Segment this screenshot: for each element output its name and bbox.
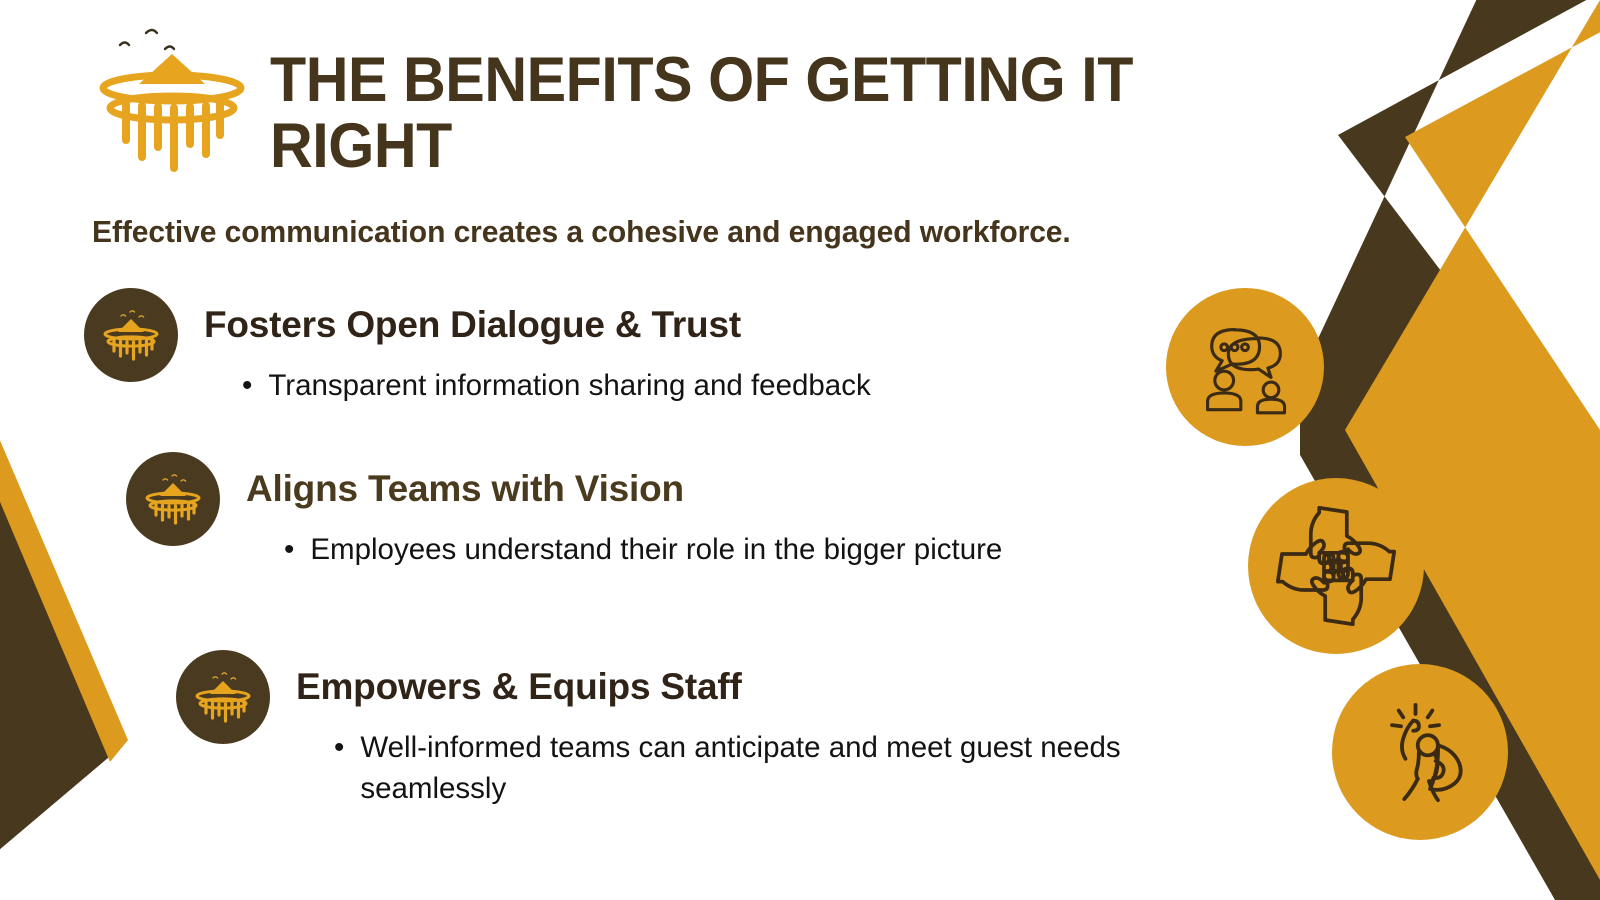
slide-canvas: THE BENEFITS OF GETTING IT RIGHT Effecti… bbox=[0, 0, 1600, 900]
bullet-marker-icon: • bbox=[242, 366, 252, 407]
bullet-marker-icon: • bbox=[284, 530, 294, 571]
dialogue-glyph bbox=[1193, 315, 1297, 419]
hands-glyph bbox=[1276, 506, 1396, 626]
benefit-bullet: • Well-informed teams can anticipate and… bbox=[334, 728, 1234, 809]
speech-bubbles-two-people-icon bbox=[1166, 288, 1324, 446]
logo-pillars bbox=[126, 104, 220, 168]
bird-icon bbox=[165, 47, 174, 50]
four-hands-together-icon bbox=[1248, 478, 1424, 654]
bird-icon bbox=[146, 30, 157, 33]
bullet-text: Well-informed teams can anticipate and m… bbox=[360, 728, 1234, 809]
gazebo-glyph bbox=[191, 665, 255, 729]
left-brown-chevron bbox=[0, 330, 115, 900]
benefit-bullet: • Employees understand their role in the… bbox=[284, 530, 1084, 571]
gazebo-pavilion-badge-icon bbox=[84, 288, 178, 382]
gazebo-glyph bbox=[141, 467, 205, 531]
gazebo-pavilion-badge-icon bbox=[126, 452, 220, 546]
benefit-heading: Empowers & Equips Staff bbox=[296, 666, 742, 708]
gazebo-pavilion-badge-icon bbox=[176, 650, 270, 744]
bullet-marker-icon: • bbox=[334, 728, 344, 769]
superhero-raised-fist-icon bbox=[1332, 664, 1508, 840]
gazebo-glyph bbox=[99, 303, 163, 367]
header: THE BENEFITS OF GETTING IT RIGHT bbox=[92, 22, 1332, 187]
superhero-glyph bbox=[1364, 696, 1476, 808]
bullet-text: Employees understand their role in the b… bbox=[310, 530, 1002, 571]
page-title: THE BENEFITS OF GETTING IT RIGHT bbox=[270, 22, 1268, 179]
benefit-heading: Fosters Open Dialogue & Trust bbox=[204, 304, 741, 346]
gazebo-pavilion-logo bbox=[92, 22, 252, 187]
subtitle: Effective communication creates a cohesi… bbox=[92, 215, 1373, 250]
bird-icon bbox=[120, 43, 129, 46]
benefit-heading: Aligns Teams with Vision bbox=[246, 468, 684, 510]
bullet-text: Transparent information sharing and feed… bbox=[268, 366, 870, 407]
logo-roof bbox=[139, 54, 205, 84]
benefit-bullet: • Transparent information sharing and fe… bbox=[242, 366, 1062, 407]
